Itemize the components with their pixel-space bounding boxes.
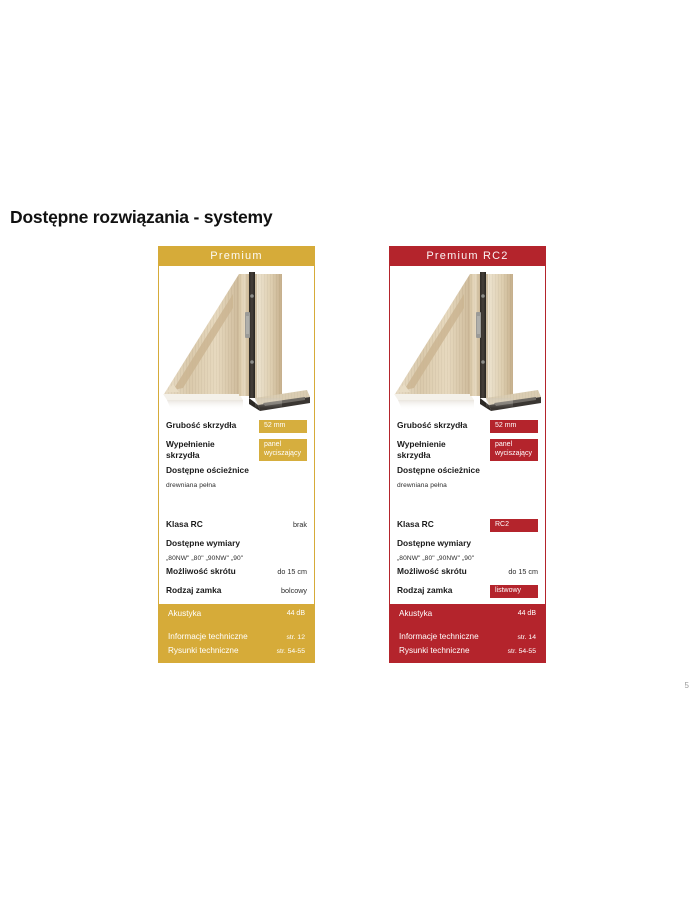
spec-list: Grubość skrzydła 52 mm Wypełnienie skrzy… — [390, 416, 545, 600]
spec-value-badge: RC2 — [490, 519, 538, 532]
spec-label: Dostępne wymiary — [166, 538, 240, 549]
spec-row-filling: Wypełnienie skrzydła panel wyciszający — [166, 439, 307, 461]
spec-label: Wypełnienie skrzydła — [397, 439, 446, 460]
spec-row-shortening: Możliwość skrótu do 15 cm — [397, 566, 538, 581]
spec-value-badge: panel wyciszający — [490, 439, 538, 461]
spec-label: Możliwość skrótu — [397, 566, 467, 577]
door-system-cutaway-image — [390, 266, 545, 416]
spec-row-frames: Dostępne ościeżnice — [397, 465, 538, 480]
spec-label: Dostępne ościeżnice — [397, 465, 480, 476]
spec-row-rc-class: Klasa RC RC2 — [397, 519, 538, 534]
acoustics-value: 44 dB — [287, 610, 305, 617]
link-technical-info[interactable]: Informacje techniczne str. 12 — [168, 632, 305, 641]
acoustics-label: Akustyka — [168, 609, 201, 618]
spec-label: Grubość skrzydła — [166, 420, 236, 431]
card-header-premium-rc2: Premium RC2 — [389, 246, 546, 266]
spec-label: Grubość skrzydła — [397, 420, 467, 431]
spec-row-lock-type: Rodzaj zamka listwowy — [397, 585, 538, 600]
reference-links: Informacje techniczne str. 12 Rysunki te… — [159, 624, 314, 662]
spec-label: Dostępne wymiary — [397, 538, 471, 549]
spec-row-dimensions: Dostępne wymiary — [166, 538, 307, 553]
spec-label: Rodzaj zamka — [166, 585, 221, 596]
dimensions-note: „80NW" „80" „90NW" „90" — [397, 555, 538, 562]
card-body: Grubość skrzydła 52 mm Wypełnienie skrzy… — [389, 266, 546, 663]
page-title: Dostępne rozwiązania - systemy — [10, 207, 272, 228]
spec-list: Grubość skrzydła 52 mm Wypełnienie skrzy… — [159, 416, 314, 600]
spec-label: Dostępne ościeżnice — [166, 465, 249, 476]
page-number: 5 — [685, 681, 689, 690]
slide-page: Dostępne rozwiązania - systemy Premium — [0, 0, 700, 900]
link-technical-drawings[interactable]: Rysunki techniczne str. 54-55 — [168, 646, 305, 655]
reference-links: Informacje techniczne str. 14 Rysunki te… — [390, 624, 545, 662]
spec-value-badge: 52 mm — [490, 420, 538, 433]
door-system-cutaway-image — [159, 266, 314, 416]
card-header-premium: Premium — [158, 246, 315, 266]
card-footer: Akustyka 44 dB Informacje techniczne str… — [159, 604, 314, 662]
acoustics-strip: Akustyka 44 dB — [159, 604, 314, 624]
spec-label: Klasa RC — [397, 519, 434, 530]
spec-value: do 15 cm — [277, 566, 307, 576]
spec-label: Klasa RC — [166, 519, 203, 530]
link-label: Informacje techniczne — [168, 632, 248, 641]
link-page-ref: str. 54-55 — [277, 648, 305, 655]
card-body: Grubość skrzydła 52 mm Wypełnienie skrzy… — [158, 266, 315, 663]
link-technical-drawings[interactable]: Rysunki techniczne str. 54-55 — [399, 646, 536, 655]
link-label: Rysunki techniczne — [168, 646, 239, 655]
frames-note: drewniana pełna — [397, 482, 538, 489]
acoustics-value: 44 dB — [518, 610, 536, 617]
link-technical-info[interactable]: Informacje techniczne str. 14 — [399, 632, 536, 641]
link-label: Informacje techniczne — [399, 632, 479, 641]
spec-value-badge: panel wyciszający — [259, 439, 307, 461]
spacer — [397, 489, 538, 519]
product-card-premium-rc2[interactable]: Premium RC2 — [389, 246, 546, 683]
spec-label: Możliwość skrótu — [166, 566, 236, 577]
spec-row-shortening: Możliwość skrótu do 15 cm — [166, 566, 307, 581]
spec-row-frames: Dostępne ościeżnice — [166, 465, 307, 480]
spec-label: Rodzaj zamka — [397, 585, 452, 596]
product-card-premium[interactable]: Premium — [158, 246, 315, 683]
spec-row-filling: Wypełnienie skrzydła panel wyciszający — [397, 439, 538, 461]
spec-value-badge: 52 mm — [259, 420, 307, 433]
spec-label: Wypełnienie skrzydła — [166, 439, 215, 460]
spec-row-rc-class: Klasa RC brak — [166, 519, 307, 534]
link-page-ref: str. 54-55 — [508, 648, 536, 655]
spec-row-lock-type: Rodzaj zamka bolcowy — [166, 585, 307, 600]
link-page-ref: str. 12 — [286, 634, 305, 641]
link-label: Rysunki techniczne — [399, 646, 470, 655]
acoustics-strip: Akustyka 44 dB — [390, 604, 545, 624]
card-title: Premium — [210, 250, 262, 262]
card-title: Premium RC2 — [426, 250, 508, 262]
spec-row-dimensions: Dostępne wymiary — [397, 538, 538, 553]
spec-row-thickness: Grubość skrzydła 52 mm — [397, 420, 538, 435]
frames-note: drewniana pełna — [166, 482, 307, 489]
spec-value-badge: listwowy — [490, 585, 538, 598]
acoustics-label: Akustyka — [399, 609, 432, 618]
spec-value: brak — [293, 519, 307, 529]
dimensions-note: „80NW" „80" „90NW" „90" — [166, 555, 307, 562]
spec-value: do 15 cm — [508, 566, 538, 576]
spacer — [166, 489, 307, 519]
card-footer: Akustyka 44 dB Informacje techniczne str… — [390, 604, 545, 662]
link-page-ref: str. 14 — [517, 634, 536, 641]
spec-row-thickness: Grubość skrzydła 52 mm — [166, 420, 307, 435]
spec-value: bolcowy — [281, 585, 307, 595]
